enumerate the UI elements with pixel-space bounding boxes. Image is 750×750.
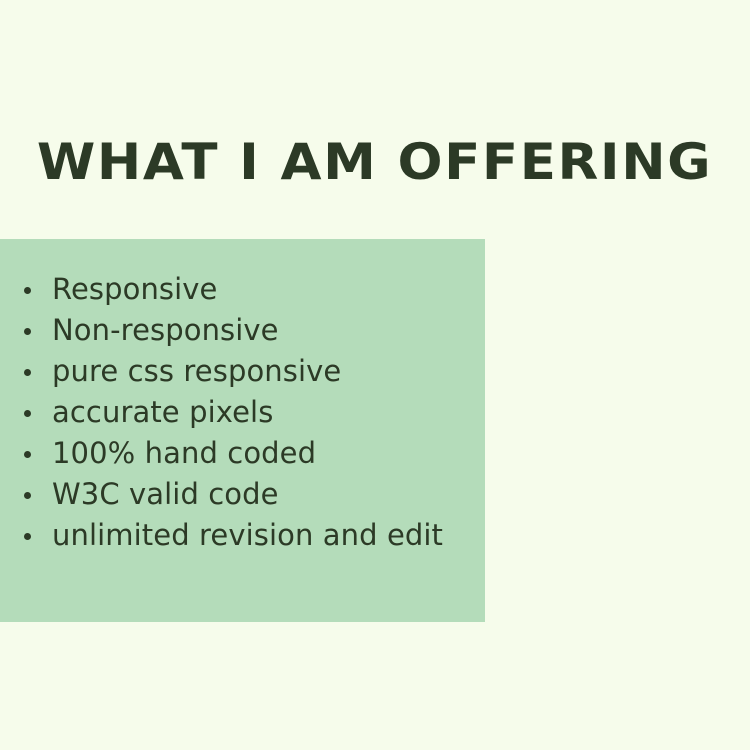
offerings-list: Responsive Non-responsive pure css respo…	[0, 269, 485, 556]
list-item: unlimited revision and edit	[0, 515, 485, 556]
list-item: W3C valid code	[0, 474, 485, 515]
bullet-icon	[24, 410, 31, 417]
bullet-icon	[24, 451, 31, 458]
list-item-label: accurate pixels	[52, 392, 273, 433]
list-item-label: 100% hand coded	[52, 433, 316, 474]
offerings-panel: Responsive Non-responsive pure css respo…	[0, 239, 485, 622]
list-item: Responsive	[0, 269, 485, 310]
bullet-icon	[24, 328, 31, 335]
bullet-icon	[24, 369, 31, 376]
bullet-icon	[24, 533, 31, 540]
slide-canvas: WHAT I AM OFFERING Responsive Non-respon…	[0, 0, 750, 750]
list-item-label: Responsive	[52, 269, 218, 310]
bullet-icon	[24, 492, 31, 499]
list-item: 100% hand coded	[0, 433, 485, 474]
list-item-label: pure css responsive	[52, 351, 341, 392]
page-title: WHAT I AM OFFERING	[37, 136, 712, 189]
bullet-icon	[24, 287, 31, 294]
list-item: accurate pixels	[0, 392, 485, 433]
list-item-label: Non-responsive	[52, 310, 279, 351]
list-item-label: unlimited revision and edit	[52, 515, 443, 556]
list-item: Non-responsive	[0, 310, 485, 351]
list-item: pure css responsive	[0, 351, 485, 392]
heading-container: WHAT I AM OFFERING	[0, 136, 750, 189]
list-item-label: W3C valid code	[52, 474, 279, 515]
